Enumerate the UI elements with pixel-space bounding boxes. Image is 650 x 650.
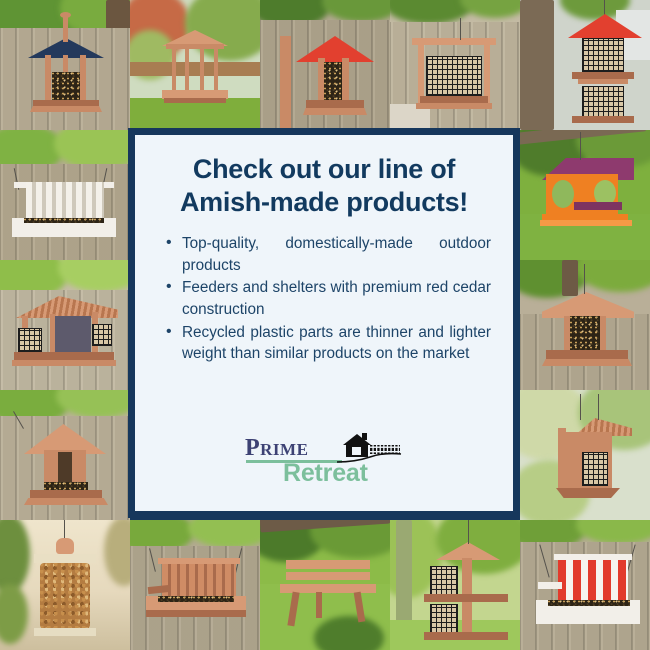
- photo-cedar-pavilion-feeder: [130, 0, 260, 130]
- photo-white-swing-bench-feeder: [0, 130, 130, 260]
- photo-seed-cylinder-feeder: [0, 520, 130, 650]
- photo-cedar-bench-feeder: [130, 520, 260, 650]
- list-item: Recycled plastic parts are thinner and l…: [165, 322, 491, 365]
- house-with-fence-icon: [337, 431, 403, 470]
- prime-retreat-logo: Prime Retreat: [245, 433, 403, 487]
- list-item: Feeders and shelters with premium red ce…: [165, 277, 491, 320]
- logo-primary-text: Prime: [245, 435, 308, 462]
- photo-red-white-bench-feeder: [520, 520, 650, 650]
- photo-cedar-slat-roof-feeder: [0, 260, 130, 390]
- photo-cedar-suet-tower-feeder: [390, 520, 520, 650]
- photo-cedar-hanging-tube-feeder: [520, 260, 650, 390]
- feature-list: Top-quality, domestically-made outdoor p…: [151, 233, 497, 366]
- promo-card: Check out our line of Amish-made product…: [128, 128, 520, 518]
- photo-cedar-suet-shelter-feeder: [520, 390, 650, 520]
- page-title: Check out our line of Amish-made product…: [151, 153, 497, 219]
- photo-orange-purple-roof-feeder: [520, 130, 650, 260]
- photo-red-roof-double-suet-feeder: [520, 0, 650, 130]
- photo-cedar-peak-roof-feeder: [0, 390, 130, 520]
- photo-cedar-suet-cage-feeder: [390, 0, 520, 130]
- list-item: Top-quality, domestically-made outdoor p…: [165, 233, 491, 276]
- photo-red-roof-hopper-feeder: [260, 0, 390, 130]
- photo-navy-roof-gazebo-feeder: [0, 0, 130, 130]
- photo-cedar-picnic-bench: [260, 520, 390, 650]
- promo-card-inner: Check out our line of Amish-made product…: [135, 135, 513, 511]
